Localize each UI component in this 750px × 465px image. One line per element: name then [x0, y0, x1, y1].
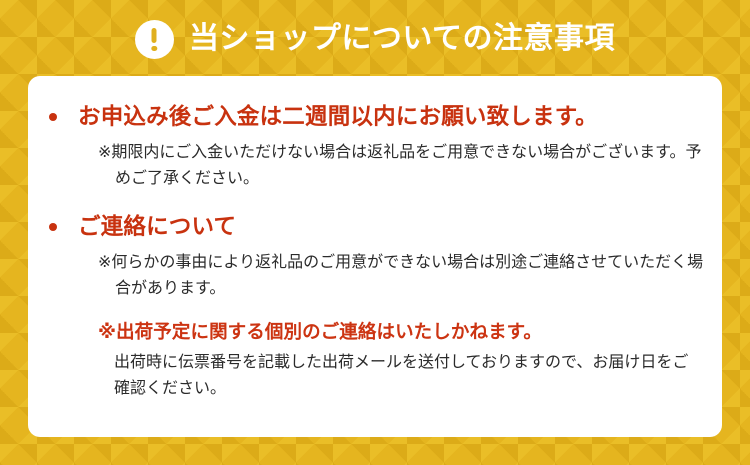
bullet-row: ご連絡について: [40, 212, 704, 241]
shop-notice-banner: 当ショップについての注意事項 お申込み後ご入金は二週間以内にお願い致します。 ※…: [0, 0, 750, 465]
notice-section-contact: ご連絡について ※何らかの事由により返礼品のご用意ができない場合は別途ご連絡させ…: [40, 212, 704, 402]
note-text: 何らかの事由により返礼品のご用意ができない場合は別途ご連絡させていただく場合があ…: [111, 254, 703, 297]
bullet-row: お申込み後ご入金は二週間以内にお願い致します。: [40, 102, 704, 131]
notice-card: お申込み後ご入金は二週間以内にお願い致します。 ※期限内にご入金いただけない場合…: [28, 76, 722, 437]
section-spacer: [40, 192, 704, 212]
banner-header: 当ショップについての注意事項: [0, 14, 750, 64]
note-shipping-mail-info: 出荷時に伝票番号を記載した出荷メールを送付しておりますので、お届け日をご確認くだ…: [114, 350, 704, 402]
banner-title: 当ショップについての注意事項: [189, 24, 615, 54]
exclamation-stem: [152, 28, 157, 43]
bullet-dot-icon: [49, 223, 57, 231]
bullet-dot-icon: [49, 113, 57, 121]
section-heading-payment: お申込み後ご入金は二週間以内にお願い致します。: [78, 102, 598, 131]
exclamation-circle-icon: [135, 20, 174, 59]
note-marker-icon: ※: [98, 254, 111, 271]
note-payment-deadline: ※期限内にご入金いただけない場合は返礼品をご用意できない場合がございます。予めご…: [98, 140, 704, 192]
note-marker-icon: ※: [98, 144, 111, 161]
notice-section-payment: お申込み後ご入金は二週間以内にお願い致します。 ※期限内にご入金いただけない場合…: [40, 102, 704, 192]
note-text: 期限内にご入金いただけない場合は返礼品をご用意できない場合がございます。予めご了…: [111, 144, 701, 187]
note-shipping-no-individual-contact: ※出荷予定に関する個別のご連絡はいたしかねます。: [98, 318, 704, 346]
note-contact-unavailable: ※何らかの事由により返礼品のご用意ができない場合は別途ご連絡させていただく場合が…: [98, 250, 704, 302]
exclamation-dot: [152, 46, 157, 51]
section-heading-contact: ご連絡について: [78, 212, 236, 241]
